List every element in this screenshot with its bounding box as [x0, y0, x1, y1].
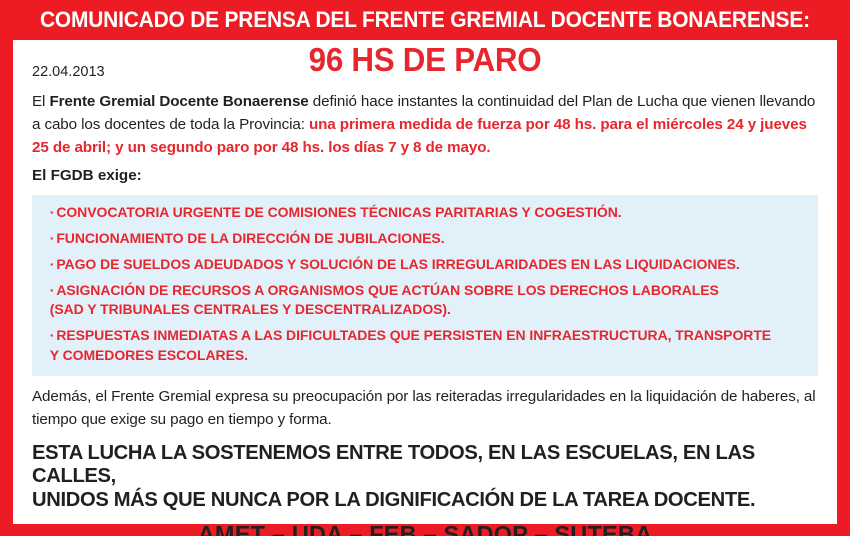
bullet-icon: · [50, 283, 55, 299]
demand-text: CONVOCATORIA URGENTE DE COMISIONES TÉCNI… [56, 205, 621, 221]
demands-box: ·CONVOCATORIA URGENTE DE COMISIONES TÉCN… [32, 195, 818, 376]
demand-text-continued: (SAD Y TRIBUNALES CENTRALES Y DESCENTRAL… [50, 301, 791, 320]
demand-text: FUNCIONAMIENTO DE LA DIRECCIÓN DE JUBILA… [56, 231, 444, 247]
slogan-line-1: ESTA LUCHA LA SOSTENEMOS ENTRE TODOS, EN… [32, 441, 802, 488]
unions-signature: AMET – UDA – FEB – SADOP – SUTEBA [32, 522, 818, 536]
header-band: COMUNICADO DE PRENSA DEL FRENTE GREMIAL … [0, 0, 850, 40]
demand-text: RESPUESTAS INMEDIATAS A LAS DIFICULTADES… [56, 328, 771, 344]
right-red-border [837, 0, 850, 536]
list-item: ·FUNCIONAMIENTO DE LA DIRECCIÓN DE JUBIL… [32, 230, 806, 249]
list-item: ·CONVOCATORIA URGENTE DE COMISIONES TÉCN… [32, 204, 806, 223]
header-title: COMUNICADO DE PRENSA DEL FRENTE GREMIAL … [40, 9, 810, 32]
content-area: 96 HS DE PARO 22.04.2013 El Frente Gremi… [13, 40, 837, 524]
closing-paragraph: Además, el Frente Gremial expresa su pre… [32, 385, 818, 431]
intro-paragraph: El Frente Gremial Docente Bonaerense def… [32, 90, 818, 159]
left-red-border [0, 0, 13, 536]
headline: 96 HS DE PARO [52, 42, 799, 78]
press-release-poster: COMUNICADO DE PRENSA DEL FRENTE GREMIAL … [0, 0, 850, 536]
demand-text: PAGO DE SUELDOS ADEUDADOS Y SOLUCIÓN DE … [56, 257, 739, 273]
bullet-icon: · [50, 231, 55, 247]
demand-text: ASIGNACIÓN DE RECURSOS A ORGANISMOS QUE … [56, 283, 718, 299]
headline-row: 96 HS DE PARO 22.04.2013 [32, 40, 818, 88]
demands-label: El FGDB exige: [32, 165, 818, 186]
slogan-line-2: UNIDOS MÁS QUE NUNCA POR LA DIGNIFICACIÓ… [32, 488, 802, 511]
bullet-icon: · [50, 328, 55, 344]
intro-text-1: El [32, 93, 49, 110]
demand-text-continued: Y COMEDORES ESCOLARES. [50, 347, 791, 366]
intro-org-name: Frente Gremial Docente Bonaerense [49, 93, 308, 110]
list-item: ·ASIGNACIÓN DE RECURSOS A ORGANISMOS QUE… [32, 282, 806, 320]
list-item: ·RESPUESTAS INMEDIATAS A LAS DIFICULTADE… [32, 327, 806, 365]
list-item: ·PAGO DE SUELDOS ADEUDADOS Y SOLUCIÓN DE… [32, 256, 806, 275]
slogan-block: ESTA LUCHA LA SOSTENEMOS ENTRE TODOS, EN… [32, 441, 802, 511]
date-label: 22.04.2013 [32, 65, 105, 80]
bullet-icon: · [50, 257, 55, 273]
bullet-icon: · [50, 205, 55, 221]
